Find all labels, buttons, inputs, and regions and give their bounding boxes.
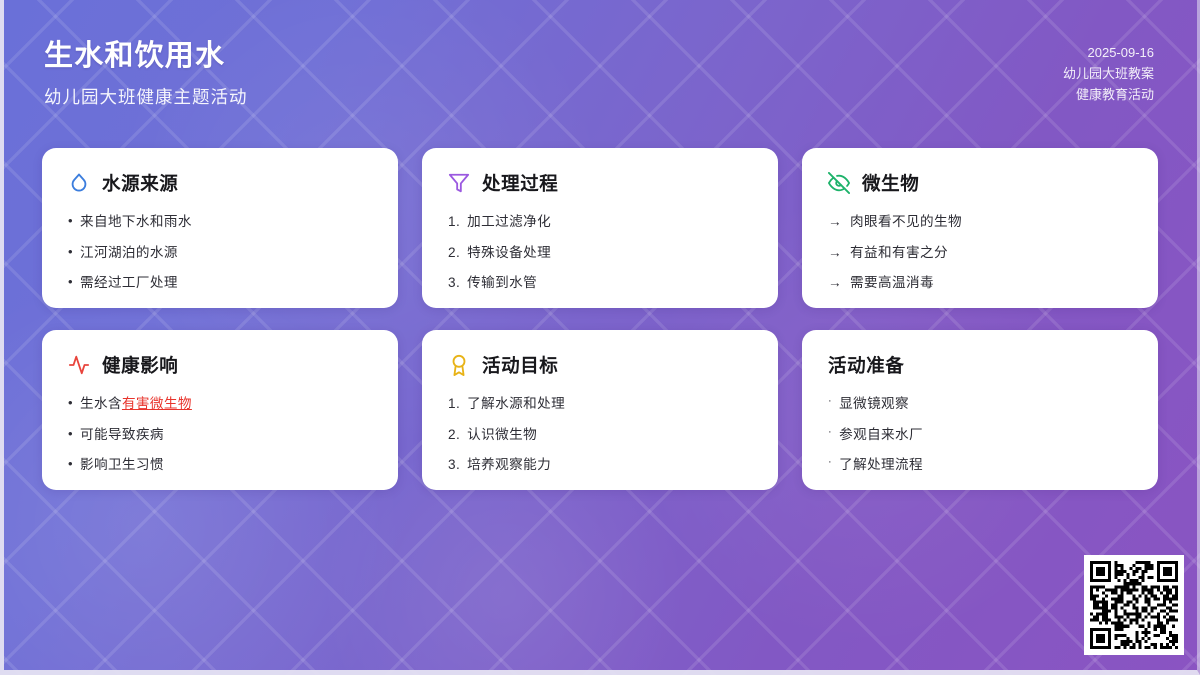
list-item: 1.了解水源和处理 [448, 394, 752, 414]
card-title: 健康影响 [102, 352, 178, 378]
list-marker: 3. [448, 273, 460, 293]
list-marker: • [68, 394, 73, 413]
cards-grid: 水源来源•来自地下水和雨水•江河湖泊的水源•需经过工厂处理处理过程1.加工过滤净… [42, 148, 1158, 490]
list-marker: • [68, 273, 73, 292]
card-water-source[interactable]: 水源来源•来自地下水和雨水•江河湖泊的水源•需经过工厂处理 [42, 148, 398, 308]
card-title: 微生物 [862, 170, 919, 196]
qr-code-image [1090, 561, 1178, 649]
slide-canvas: 生水和饮用水 幼儿园大班健康主题活动 2025-09-16 幼儿园大班教案 健康… [0, 0, 1200, 675]
list-item-text: 影响卫生习惯 [80, 455, 372, 475]
card-list: •生水含有害微生物•可能导致疾病•影响卫生习惯 [68, 394, 372, 475]
card-title: 水源来源 [102, 170, 178, 196]
list-item-text: 有益和有害之分 [850, 243, 1132, 263]
activity-pulse-icon [68, 354, 90, 376]
card-header: 活动目标 [448, 352, 752, 378]
list-item: ·了解处理流程 [828, 455, 1132, 475]
list-item-text: 生水含有害微生物 [80, 394, 372, 414]
meta-date: 2025-09-16 [1063, 42, 1154, 63]
card-list: 1.加工过滤净化2.特殊设备处理3.传输到水管 [448, 212, 752, 293]
list-item-text: 认识微生物 [467, 425, 752, 445]
list-item: 1.加工过滤净化 [448, 212, 752, 232]
list-item: →需要高温消毒 [828, 273, 1132, 293]
card-header: 活动准备 [828, 352, 1132, 378]
card-list: →肉眼看不见的生物→有益和有害之分→需要高温消毒 [828, 212, 1132, 293]
header: 生水和饮用水 幼儿园大班健康主题活动 [44, 38, 248, 109]
page-subtitle: 幼儿园大班健康主题活动 [44, 84, 248, 109]
list-marker: → [828, 273, 843, 293]
list-item-text-base: 生水含 [80, 396, 122, 411]
qr-code[interactable] [1084, 555, 1184, 655]
list-item-text: 特殊设备处理 [467, 243, 752, 263]
card-microorganisms[interactable]: 微生物→肉眼看不见的生物→有益和有害之分→需要高温消毒 [802, 148, 1158, 308]
list-marker: · [828, 455, 832, 471]
list-item: ·显微镜观察 [828, 394, 1132, 414]
list-item: •可能导致疾病 [68, 425, 372, 445]
list-marker: 1. [448, 394, 460, 414]
list-item-text: 加工过滤净化 [467, 212, 752, 232]
list-item-text: 了解水源和处理 [467, 394, 752, 414]
card-header: 处理过程 [448, 170, 752, 196]
list-marker: 2. [448, 425, 460, 445]
list-item-text: 需经过工厂处理 [80, 273, 372, 293]
list-item: 2.认识微生物 [448, 425, 752, 445]
list-marker: • [68, 425, 73, 444]
list-item-text: 来自地下水和雨水 [80, 212, 372, 232]
list-item: •江河湖泊的水源 [68, 243, 372, 263]
meta-subject: 健康教育活动 [1063, 84, 1154, 105]
card-activity-preparation[interactable]: 活动准备·显微镜观察·参观自来水厂·了解处理流程 [802, 330, 1158, 490]
list-item: 3.培养观察能力 [448, 455, 752, 475]
list-item: •影响卫生习惯 [68, 455, 372, 475]
card-list: ·显微镜观察·参观自来水厂·了解处理流程 [828, 394, 1132, 475]
card-header: 微生物 [828, 170, 1132, 196]
award-icon [448, 354, 470, 376]
list-item-text: 参观自来水厂 [839, 425, 1132, 445]
list-marker: • [68, 243, 73, 262]
list-item: •生水含有害微生物 [68, 394, 372, 414]
card-title: 活动准备 [828, 352, 904, 378]
list-marker: 1. [448, 212, 460, 232]
list-marker: → [828, 243, 843, 263]
meta-info: 2025-09-16 幼儿园大班教案 健康教育活动 [1063, 42, 1154, 105]
list-item-text: 肉眼看不见的生物 [850, 212, 1132, 232]
filter-icon [448, 172, 470, 194]
card-list: 1.了解水源和处理2.认识微生物3.培养观察能力 [448, 394, 752, 475]
meta-category: 幼儿园大班教案 [1063, 63, 1154, 84]
card-list: •来自地下水和雨水•江河湖泊的水源•需经过工厂处理 [68, 212, 372, 293]
droplet-icon [68, 172, 90, 194]
highlighted-term: 有害微生物 [122, 396, 192, 411]
list-item-text: 了解处理流程 [839, 455, 1132, 475]
list-item-text: 江河湖泊的水源 [80, 243, 372, 263]
list-marker: · [828, 394, 832, 410]
list-item: •需经过工厂处理 [68, 273, 372, 293]
list-item-text: 需要高温消毒 [850, 273, 1132, 293]
card-health-impact[interactable]: 健康影响•生水含有害微生物•可能导致疾病•影响卫生习惯 [42, 330, 398, 490]
list-item-text: 显微镜观察 [839, 394, 1132, 414]
page-title: 生水和饮用水 [44, 38, 248, 74]
list-marker: 3. [448, 455, 460, 475]
card-header: 健康影响 [68, 352, 372, 378]
card-header: 水源来源 [68, 170, 372, 196]
card-activity-goals[interactable]: 活动目标1.了解水源和处理2.认识微生物3.培养观察能力 [422, 330, 778, 490]
list-item-text: 可能导致疾病 [80, 425, 372, 445]
list-marker: • [68, 212, 73, 231]
card-title: 活动目标 [482, 352, 558, 378]
list-item-text: 传输到水管 [467, 273, 752, 293]
list-item: →肉眼看不见的生物 [828, 212, 1132, 232]
list-marker: 2. [448, 243, 460, 263]
list-item: →有益和有害之分 [828, 243, 1132, 263]
list-item: 2.特殊设备处理 [448, 243, 752, 263]
eye-off-icon [828, 172, 850, 194]
list-item: •来自地下水和雨水 [68, 212, 372, 232]
list-marker: • [68, 455, 73, 474]
list-marker: · [828, 425, 832, 441]
list-item: 3.传输到水管 [448, 273, 752, 293]
list-marker: → [828, 212, 843, 232]
card-treatment-process[interactable]: 处理过程1.加工过滤净化2.特殊设备处理3.传输到水管 [422, 148, 778, 308]
card-title: 处理过程 [482, 170, 558, 196]
list-item-text: 培养观察能力 [467, 455, 752, 475]
list-item: ·参观自来水厂 [828, 425, 1132, 445]
